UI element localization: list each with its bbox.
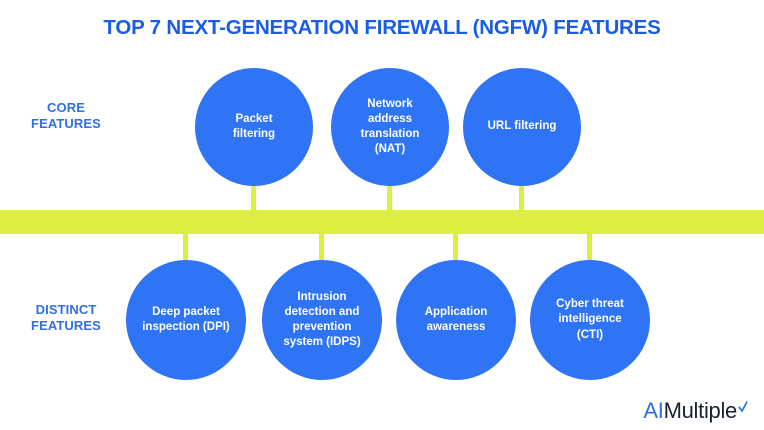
connector-intrusion-detection-prevention <box>319 232 324 261</box>
node-network-address-translation-label: Networkaddresstranslation(NAT) <box>361 97 420 158</box>
node-intrusion-detection-prevention[interactable]: Intrusiondetection andpreventionsystem (… <box>262 260 382 380</box>
connector-application-awareness <box>453 232 458 261</box>
page-title: TOP 7 NEXT-GENERATION FIREWALL (NGFW) FE… <box>0 16 764 40</box>
connector-network-address-translation <box>387 185 392 212</box>
node-intrusion-detection-prevention-label: Intrusiondetection andpreventionsystem (… <box>283 290 360 351</box>
row-label-distinct-line2: FEATURES <box>0 318 132 334</box>
aimultiple-logo[interactable]: AI Multiple <box>643 400 748 422</box>
logo-tick-icon <box>738 396 748 410</box>
connector-packet-filtering <box>251 185 256 212</box>
row-label-distinct-line1: DISTINCT <box>0 302 132 318</box>
node-cyber-threat-intelligence[interactable]: Cyber threatintelligence(CTI) <box>530 260 650 380</box>
row-label-core-line1: CORE <box>0 100 132 116</box>
row-label-distinct: DISTINCT FEATURES <box>0 302 132 335</box>
node-packet-filtering[interactable]: Packetfiltering <box>195 68 313 186</box>
spine-bar <box>0 210 764 234</box>
connector-cyber-threat-intelligence <box>587 232 592 261</box>
row-label-core-line2: FEATURES <box>0 116 132 132</box>
logo-text-multiple: Multiple <box>664 400 737 422</box>
row-label-core: CORE FEATURES <box>0 100 132 133</box>
node-url-filtering-label: URL filtering <box>488 119 557 134</box>
logo-text-ai: AI <box>643 400 663 422</box>
node-application-awareness-label: Applicationawareness <box>425 305 488 335</box>
connector-url-filtering <box>519 185 524 212</box>
node-packet-filtering-label: Packetfiltering <box>233 112 275 142</box>
node-deep-packet-inspection-label: Deep packetinspection (DPI) <box>142 305 230 335</box>
infographic-canvas: TOP 7 NEXT-GENERATION FIREWALL (NGFW) FE… <box>0 0 764 430</box>
node-network-address-translation[interactable]: Networkaddresstranslation(NAT) <box>331 68 449 186</box>
connector-deep-packet-inspection <box>183 232 188 261</box>
node-url-filtering[interactable]: URL filtering <box>463 68 581 186</box>
node-application-awareness[interactable]: Applicationawareness <box>396 260 516 380</box>
node-cyber-threat-intelligence-label: Cyber threatintelligence(CTI) <box>556 297 624 343</box>
node-deep-packet-inspection[interactable]: Deep packetinspection (DPI) <box>126 260 246 380</box>
